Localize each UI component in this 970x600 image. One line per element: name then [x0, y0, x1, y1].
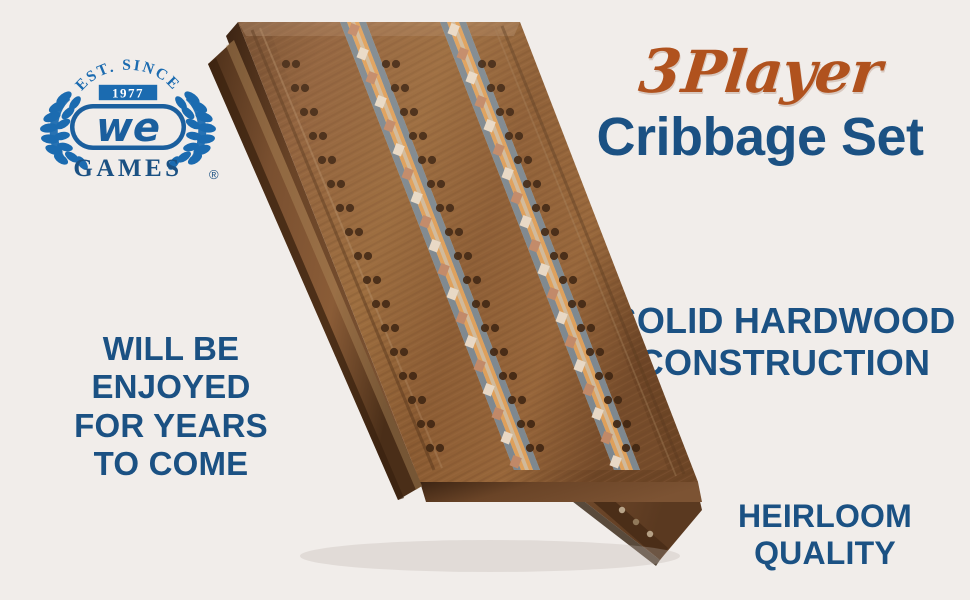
- games-text: GAMES: [73, 155, 182, 182]
- we-wordmark: we: [70, 104, 186, 151]
- we-text: we: [96, 105, 160, 151]
- feature-heirloom-quality: HEIRLOOM QUALITY: [700, 498, 950, 572]
- promo-banner: EST. SINCE 1977 we GAMES ® 3Player: [0, 0, 970, 600]
- feature-heirloom-line2: QUALITY: [700, 535, 950, 572]
- year-text: 1977: [112, 86, 144, 101]
- cribbage-board-photo: [190, 0, 730, 600]
- cribbage-board-illustration: [190, 0, 730, 600]
- year-banner: 1977: [98, 84, 158, 101]
- feature-heirloom-line1: HEIRLOOM: [700, 498, 950, 535]
